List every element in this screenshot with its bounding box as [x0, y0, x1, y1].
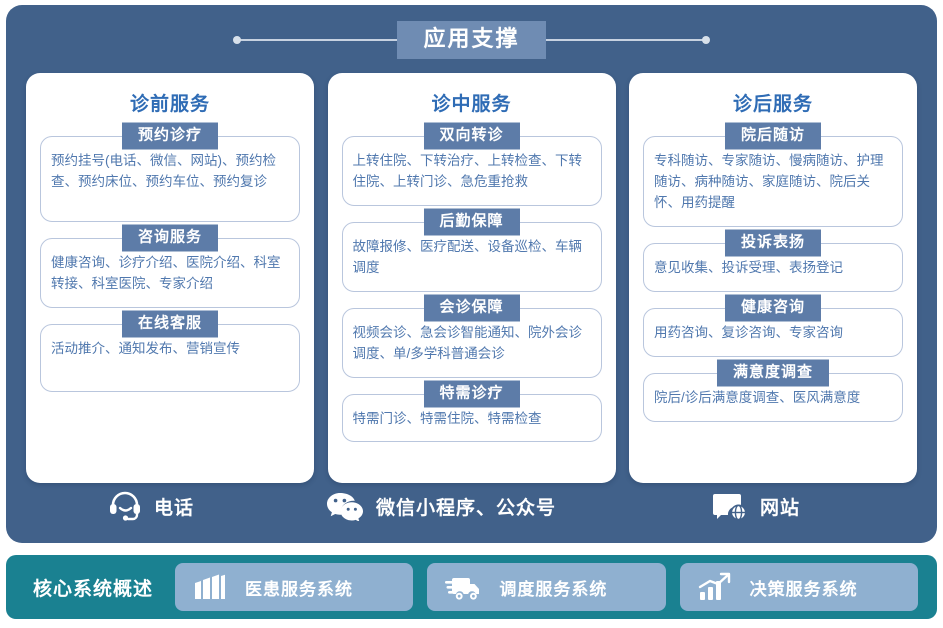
- service-card[interactable]: 特需诊疗 特需门诊、特需住院、特需检查: [342, 394, 602, 443]
- truck-icon: [445, 572, 481, 602]
- headset-icon: [108, 491, 142, 521]
- core-systems-bar: 核心系统概述 医患服务系统: [6, 555, 937, 619]
- service-card-title: 后勤保障: [423, 208, 519, 235]
- system-button-label: 医患服务系统: [245, 575, 353, 600]
- channel-wechat[interactable]: 微信小程序、公众号: [276, 491, 606, 521]
- service-card[interactable]: 咨询服务 健康咨询、诊疗介绍、医院介绍、科室转接、科室医院、专家介绍: [40, 238, 300, 308]
- service-card[interactable]: 预约诊疗 预约挂号(电话、微信、网站)、预约检查、预约床位、预约车位、预约复诊: [40, 136, 300, 222]
- system-button-label: 调度服务系统: [499, 575, 607, 600]
- channel-phone[interactable]: 电话: [26, 491, 276, 521]
- infographic-root: 应用支撑 诊前服务 预约诊疗 预约挂号(电话、微信、网站)、预约检查、预约床位、…: [0, 0, 943, 628]
- website-icon: [712, 491, 748, 521]
- channel-label: 微信小程序、公众号: [376, 493, 556, 520]
- page-title: 应用支撑: [397, 21, 545, 59]
- channel-row: 电话 微信小程序、公众号: [26, 491, 917, 521]
- column-title: 诊后服务: [639, 81, 907, 120]
- service-card[interactable]: 会诊保障 视频会诊、急会诊智能通知、院外会诊调度、单/多学科普通会诊: [342, 308, 602, 378]
- service-card[interactable]: 院后随访 专科随访、专家随访、慢病随访、护理随访、病种随访、家庭随访、院后关怀、…: [643, 136, 903, 227]
- service-card-title: 在线客服: [122, 310, 218, 337]
- service-column-post: 诊后服务 院后随访 专科随访、专家随访、慢病随访、护理随访、病种随访、家庭随访、…: [629, 73, 917, 483]
- core-systems-title: 核心系统概述: [18, 574, 168, 601]
- column-title: 诊前服务: [36, 81, 304, 120]
- system-button-dispatch[interactable]: 调度服务系统: [427, 563, 665, 611]
- service-card-title: 投诉表扬: [725, 229, 821, 256]
- service-card-title: 健康咨询: [725, 294, 821, 321]
- service-card[interactable]: 后勤保障 故障报修、医疗配送、设备巡检、车辆调度: [342, 222, 602, 292]
- service-card[interactable]: 双向转诊 上转住院、下转治疗、上转检查、下转住院、上转门诊、急危重抢救: [342, 136, 602, 206]
- channel-label: 电话: [154, 493, 194, 520]
- service-card-title: 院后随访: [725, 123, 821, 150]
- service-card-title: 咨询服务: [122, 225, 218, 252]
- service-card-title: 预约诊疗: [122, 123, 218, 150]
- service-card[interactable]: 投诉表扬 意见收集、投诉受理、表扬登记: [643, 243, 903, 292]
- service-card-title: 特需诊疗: [423, 380, 519, 407]
- channel-label: 网站: [760, 493, 800, 520]
- service-card-title: 会诊保障: [423, 294, 519, 321]
- system-button-patient[interactable]: 医患服务系统: [175, 563, 413, 611]
- system-button-decision[interactable]: 决策服务系统: [680, 563, 918, 611]
- service-card-body: 专科随访、专家随访、慢病随访、护理随访、病种随访、家庭随访、院后关怀、用药提醒: [643, 136, 903, 227]
- application-support-panel: 应用支撑 诊前服务 预约诊疗 预约挂号(电话、微信、网站)、预约检查、预约床位、…: [6, 5, 937, 543]
- title-line-right: [546, 39, 706, 41]
- service-card[interactable]: 健康咨询 用药咨询、复诊咨询、专家咨询: [643, 308, 903, 357]
- service-card-title: 满意度调查: [717, 359, 829, 386]
- service-columns: 诊前服务 预约诊疗 预约挂号(电话、微信、网站)、预约检查、预约床位、预约车位、…: [26, 73, 917, 483]
- service-card[interactable]: 满意度调查 院后/诊后满意度调查、医风满意度: [643, 373, 903, 422]
- title-line-left: [237, 39, 397, 41]
- service-column-pre: 诊前服务 预约诊疗 预约挂号(电话、微信、网站)、预约检查、预约床位、预约车位、…: [26, 73, 314, 483]
- chart-growth-icon: [698, 572, 732, 602]
- service-column-during: 诊中服务 双向转诊 上转住院、下转治疗、上转检查、下转住院、上转门诊、急危重抢救…: [328, 73, 616, 483]
- channel-website[interactable]: 网站: [606, 491, 906, 521]
- service-card[interactable]: 在线客服 活动推介、通知发布、营销宣传: [40, 324, 300, 392]
- system-button-label: 决策服务系统: [750, 575, 858, 600]
- panel-title-row: 应用支撑: [6, 19, 937, 61]
- factory-icon: [193, 572, 227, 602]
- service-card-title: 双向转诊: [423, 123, 519, 150]
- wechat-icon: [326, 491, 364, 521]
- column-title: 诊中服务: [338, 81, 606, 120]
